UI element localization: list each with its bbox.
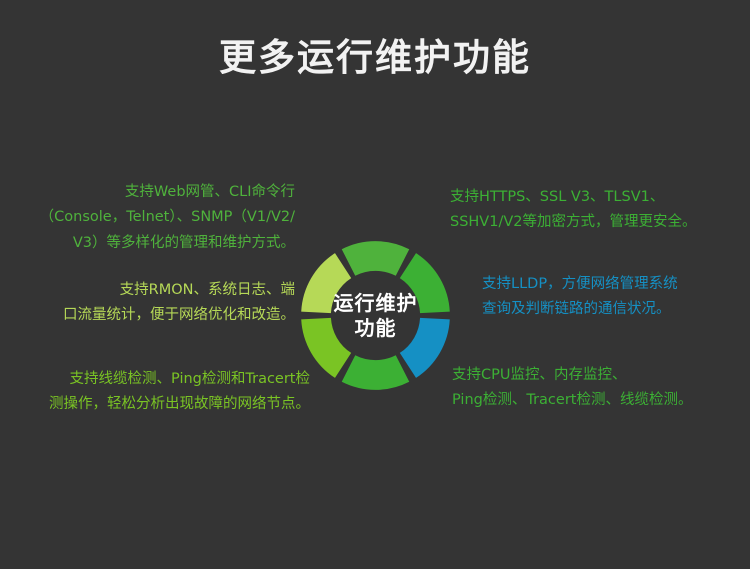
feature-web-line-2: （Console，Telnet）、SNMP（V1/V2/	[10, 205, 295, 230]
feature-encryption-security: 支持HTTPS、SSL V3、TLSV1、 SSHV1/V2等加密方式，管理更安…	[450, 185, 740, 236]
feature-cable-diagnostics: 支持线缆检测、Ping检测和Tracert检 测操作，轻松分析出现故障的网络节点…	[10, 367, 310, 418]
feature-lldp: 支持LLDP，方便网络管理系统 查询及判断链路的通信状况。	[482, 272, 742, 323]
feature-cable-line-1: 支持线缆检测、Ping检测和Tracert检	[10, 367, 310, 392]
donut-segment-left[interactable]	[316, 266, 343, 313]
feature-rmon-line-1: 支持RMON、系统日志、端	[10, 278, 295, 303]
page-title: 更多运行维护功能	[0, 36, 750, 80]
feature-web-line-1: 支持Web网管、CLI命令行	[10, 180, 295, 205]
feature-web-management: 支持Web网管、CLI命令行 （Console，Telnet）、SNMP（V1/…	[10, 180, 295, 256]
feature-encrypt-line-2: SSHV1/V2等加密方式，管理更安全。	[450, 210, 740, 235]
운donut-chart: 运行维护 功能	[288, 228, 463, 403]
feature-encrypt-line-1: 支持HTTPS、SSL V3、TLSV1、	[450, 185, 740, 210]
slide-canvas: 更多运行维护功能 运行维护 功能 支持Web网管、CLI命令行 （Console…	[0, 0, 750, 569]
donut-svg	[288, 228, 463, 403]
donut-segment-top-right[interactable]	[408, 266, 435, 313]
feature-rmon-line-2: 口流量统计，便于网络优化和改造。	[10, 303, 295, 328]
feature-web-line-3: V3）等多样化的管理和维护方式。	[10, 231, 295, 256]
feature-rmon-logging: 支持RMON、系统日志、端 口流量统计，便于网络优化和改造。	[10, 278, 295, 329]
feature-lldp-line-1: 支持LLDP，方便网络管理系统	[482, 272, 742, 297]
feature-cable-line-2: 测操作，轻松分析出现故障的网络节点。	[10, 392, 310, 417]
donut-segment-bottom-left[interactable]	[316, 319, 343, 366]
feature-monitor-line-2: Ping检测、Tracert检测、线缆检测。	[452, 388, 742, 413]
donut-segment-bottom-right[interactable]	[348, 369, 402, 375]
feature-lldp-line-2: 查询及判断链路的通信状况。	[482, 297, 742, 322]
feature-cpu-memory-monitor: 支持CPU监控、内存监控、 Ping检测、Tracert检测、线缆检测。	[452, 363, 742, 414]
donut-segment-right[interactable]	[408, 319, 435, 366]
donut-segment-top-left[interactable]	[348, 256, 402, 262]
feature-monitor-line-1: 支持CPU监控、内存监控、	[452, 363, 742, 388]
